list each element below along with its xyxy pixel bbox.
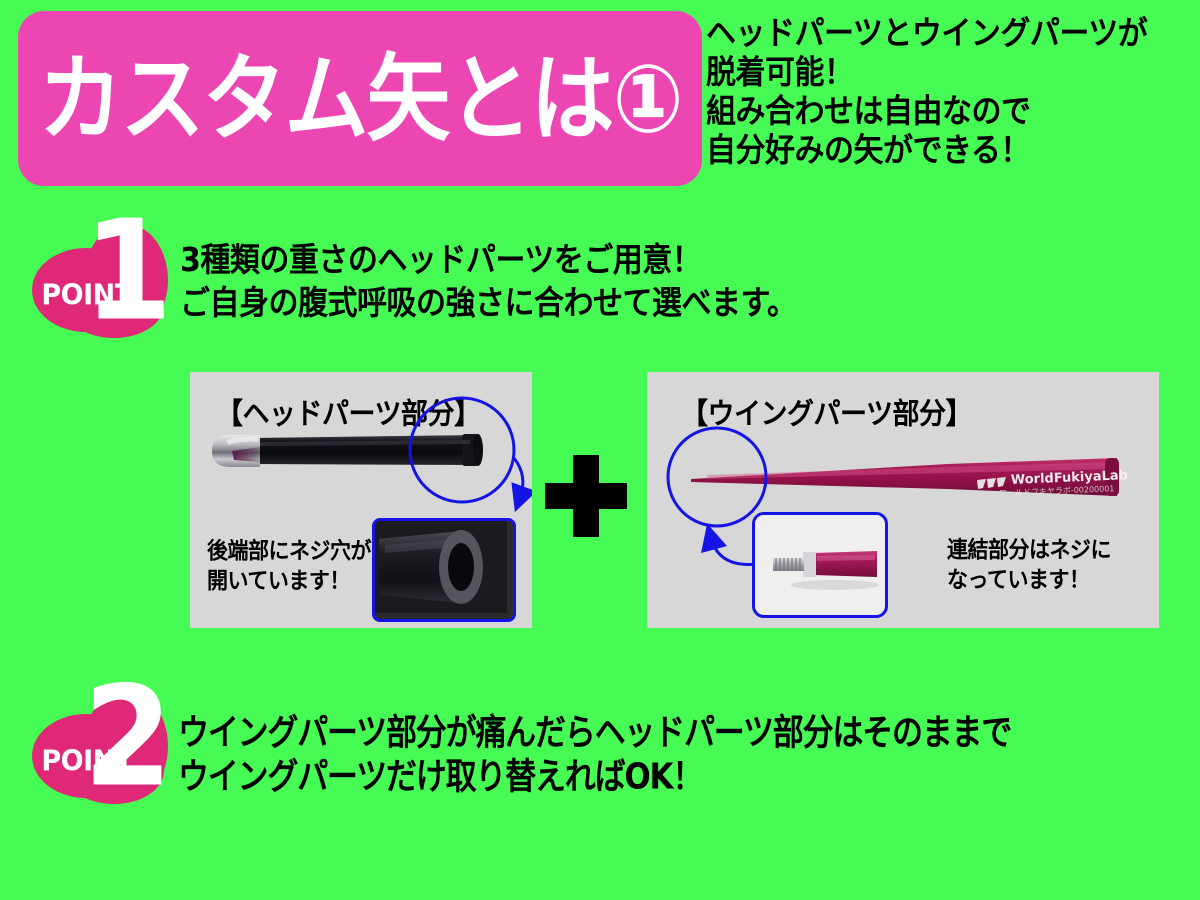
point-1-number: 1 (80, 203, 176, 341)
title-banner: カスタム矢とは① (18, 11, 702, 186)
header-line-1: ヘッドパーツとウイングパーツが (706, 12, 1198, 54)
point-1-line-2: ご自身の腹式呼吸の強さに合わせて選べます。 (180, 280, 797, 327)
wing-connector-arrow (711, 538, 757, 564)
header-description: ヘッドパーツとウイングパーツが 脱着可能！ 組み合わせは自由なので 自分好みの矢… (706, 14, 1198, 170)
plus-icon (545, 455, 627, 537)
wing-caption-line-2: なっています！ (947, 564, 1111, 596)
header-row: カスタム矢とは① ヘッドパーツとウイングパーツが 脱着可能！ 組み合わせは自由な… (0, 0, 1200, 196)
head-part-shaft (252, 434, 483, 466)
head-part-silver-tip (212, 435, 260, 467)
screw-threads (776, 558, 800, 571)
point-2-badge: POINT 2 (28, 688, 178, 806)
head-caption-line-2: 開いています！ (207, 565, 371, 597)
wing-screw-thread-photo (755, 515, 879, 609)
wing-part-panel: 【ウイングパーツ部分】 WorldFukiyaLab ワールドフキヤラボ-002… (647, 372, 1159, 628)
head-connector-arrow (514, 458, 523, 498)
wing-caption-line-1: 連結部分はネジに (947, 534, 1111, 566)
point-2-text: ウイングパーツ部分が痛んだらヘッドパーツ部分はそのままで ウイングパーツだけ取り… (178, 711, 1011, 799)
header-line-4: 自分好みの矢ができる！ (706, 129, 1198, 171)
wing-part-caption: 連結部分はネジに なっています！ (947, 535, 1111, 595)
point-2-number: 2 (80, 669, 176, 807)
point-2-line-2: ウイングパーツだけ取り替えればOK！ (178, 752, 1011, 803)
header-line-2: 脱着可能！ (706, 51, 1198, 93)
head-caption-line-1: 後端部にネジ穴が (207, 535, 371, 567)
wing-screw-thread-inset (752, 512, 888, 618)
head-screw-hole-inset (372, 518, 516, 622)
header-line-3: 組み合わせは自由なので (706, 90, 1198, 132)
head-screw-hole-photo (375, 521, 507, 613)
plus-vertical-bar (573, 455, 599, 537)
point-1-line-1: 3種類の重さのヘッドパーツをご用意！ (180, 237, 797, 284)
point-1-text: 3種類の重さのヘッドパーツをご用意！ ご自身の腹式呼吸の強さに合わせて選べます。 (180, 239, 797, 325)
page-title: カスタム矢とは① (38, 51, 681, 145)
head-part-caption: 後端部にネジ穴が 開いています！ (207, 536, 371, 596)
head-part-panel: 【ヘッドパーツ部分】 (190, 372, 532, 628)
point-1-badge: POINT 1 (28, 222, 178, 340)
